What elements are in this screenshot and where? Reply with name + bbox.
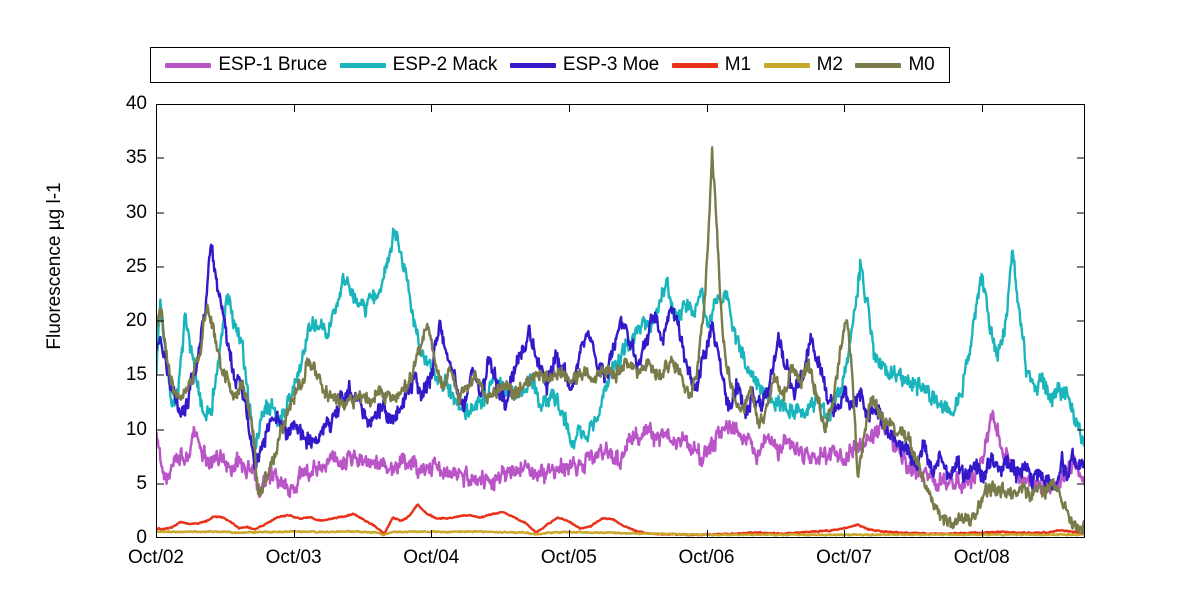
y-axis-tick-mark [1077,158,1085,159]
y-axis-tick-mark [1077,321,1085,322]
x-axis-tick-label: Oct/04 [403,547,459,569]
legend-item-label: ESP-3 Moe [563,54,659,76]
legend-item-label: M2 [817,54,843,76]
x-axis-tick-mark [844,530,845,538]
series-line [156,531,1085,536]
chart-legend: ESP-1 BruceESP-2 MackESP-3 MoeM1M2M0 [150,47,950,83]
y-axis-tick-mark [156,375,164,376]
y-axis-tick-mark [156,483,164,484]
legend-color-swatch [672,63,718,68]
series-layer [156,104,1085,538]
x-axis-tick-mark [569,104,570,112]
legend-item-label: M0 [908,54,934,76]
x-axis-tick-label: Oct/05 [541,547,597,569]
legend-color-swatch [340,63,386,68]
x-axis-tick-label: Oct/02 [128,547,184,569]
legend-color-swatch [855,63,901,68]
y-axis-tick-label: 0 [136,527,147,549]
y-axis-tick-mark [156,266,164,267]
x-axis-tick-mark [844,104,845,112]
series-line [156,229,1085,449]
y-axis-tick-mark [1077,483,1085,484]
y-axis-tick-label: 5 [136,473,147,495]
legend-color-swatch [165,63,211,68]
x-axis-tick-mark [982,104,983,112]
y-axis-tick-mark [1077,429,1085,430]
y-axis-tick-mark [156,212,164,213]
legend-item[interactable]: M2 [764,54,843,76]
x-axis-tick-label: Oct/06 [679,547,735,569]
x-axis-tick-mark [982,530,983,538]
y-axis-tick-mark [156,158,164,159]
y-axis-tick-mark [1077,212,1085,213]
legend-item-label: M1 [725,54,751,76]
legend-item[interactable]: M1 [672,54,751,76]
x-axis-tick-label: Oct/03 [266,547,322,569]
y-axis-tick-label: 40 [126,93,147,115]
y-axis-tick-label: 10 [126,419,147,441]
figure-canvas: ESP-1 BruceESP-2 MackESP-3 MoeM1M2M0 Flu… [0,0,1200,600]
x-axis-tick-mark [294,530,295,538]
legend-item[interactable]: M0 [855,54,934,76]
y-axis-tick-mark [1077,375,1085,376]
legend-color-swatch [510,63,556,68]
y-axis-tick-label: 35 [126,147,147,169]
y-axis-tick-label: 30 [126,202,147,224]
x-axis-tick-label: Oct/07 [816,547,872,569]
x-axis-tick-mark [707,104,708,112]
legend-item[interactable]: ESP-3 Moe [510,54,659,76]
legend-item[interactable]: ESP-1 Bruce [165,54,327,76]
x-axis-tick-mark [707,530,708,538]
x-axis-tick-mark [569,530,570,538]
y-axis-label: Fluorescence µg l-1 [44,101,66,431]
legend-color-swatch [764,63,810,68]
y-axis-tick-label: 20 [126,310,147,332]
legend-item-label: ESP-1 Bruce [218,54,327,76]
plot-area: 0510152025303540Oct/02Oct/03Oct/04Oct/05… [156,104,1085,538]
x-axis-tick-label: Oct/08 [954,547,1010,569]
x-axis-tick-mark [431,104,432,112]
y-axis-tick-mark [1077,266,1085,267]
y-axis-tick-label: 25 [126,256,147,278]
y-axis-tick-label: 15 [126,364,147,386]
y-axis-tick-mark [156,429,164,430]
legend-item-label: ESP-2 Mack [393,54,498,76]
legend-item[interactable]: ESP-2 Mack [340,54,498,76]
y-axis-tick-mark [156,321,164,322]
x-axis-tick-mark [294,104,295,112]
x-axis-tick-mark [431,530,432,538]
